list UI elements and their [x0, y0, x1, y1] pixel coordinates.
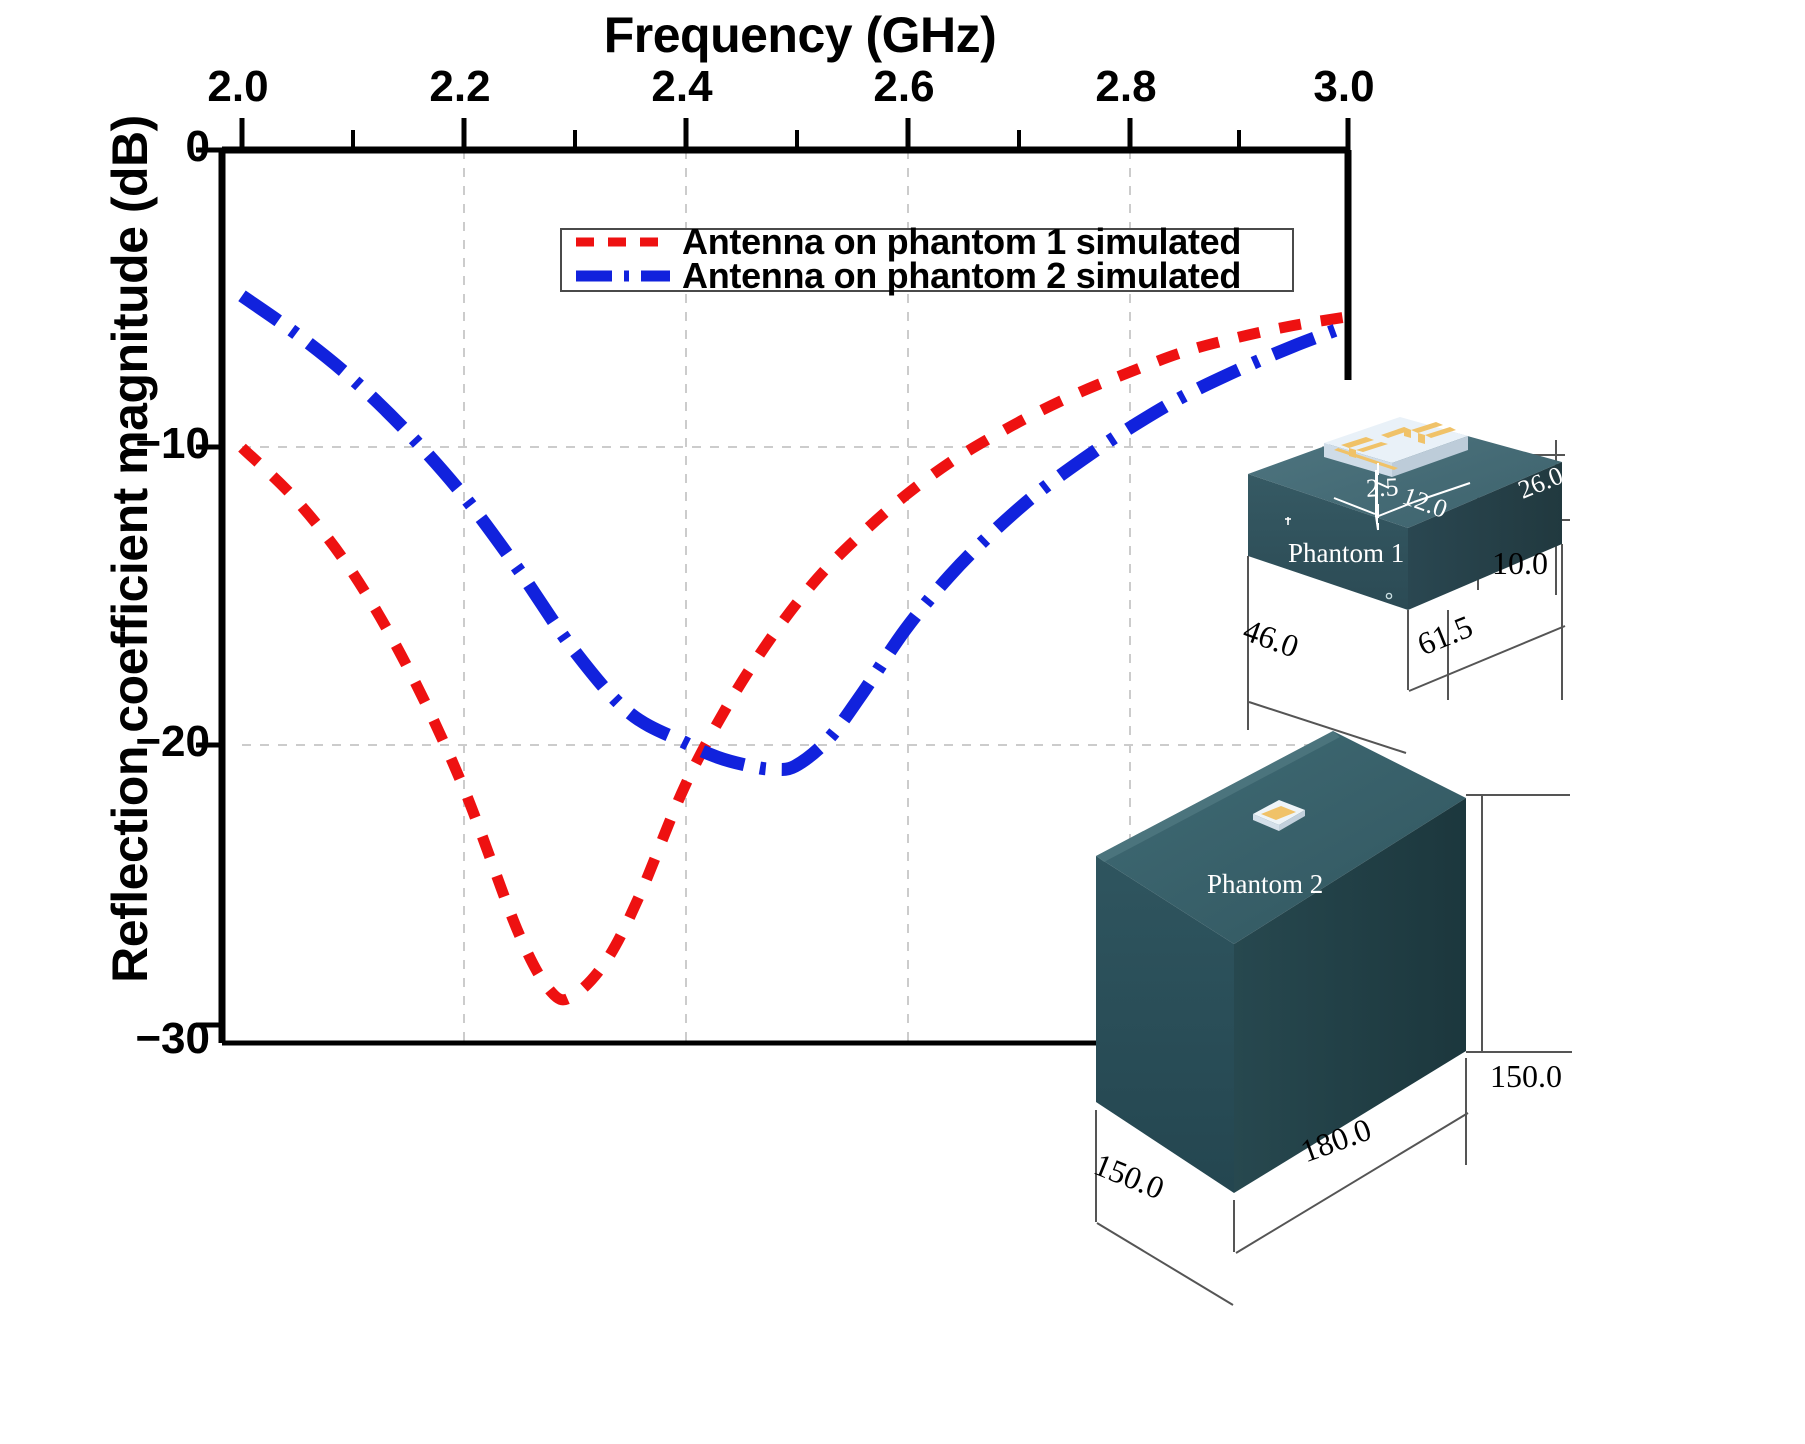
legend-label-phantom-2: Antenna on phantom 2 simulated [682, 255, 1241, 297]
dim-label-150-0-right: 150.0 [1490, 1058, 1562, 1095]
inset-phantom-2 [1096, 731, 1572, 1305]
legend-entry-0: Antenna on phantom 1 simulated [562, 226, 1292, 258]
legend-swatch-phantom-1 [574, 228, 672, 256]
figure-root: Frequency (GHz) Reflection coefficient m… [0, 0, 1805, 1444]
dim-label-2-5: 2.5 [1365, 472, 1399, 504]
inset-caption-phantom-2: Phantom 2 [1207, 869, 1323, 900]
inset-phantom-1 [1248, 417, 1570, 753]
series-line-phantom-2 [242, 296, 1348, 770]
chart-legend: Antenna on phantom 1 simulated Antenna o… [560, 228, 1294, 292]
dim-label-10-0: 10.0 [1492, 545, 1548, 582]
inset-caption-phantom-1: Phantom 1 [1288, 538, 1404, 569]
legend-entry-1: Antenna on phantom 2 simulated [562, 260, 1292, 292]
y-major-ticks [196, 150, 222, 1025]
legend-swatch-phantom-2 [574, 262, 672, 290]
plot-canvas [0, 0, 1805, 1444]
